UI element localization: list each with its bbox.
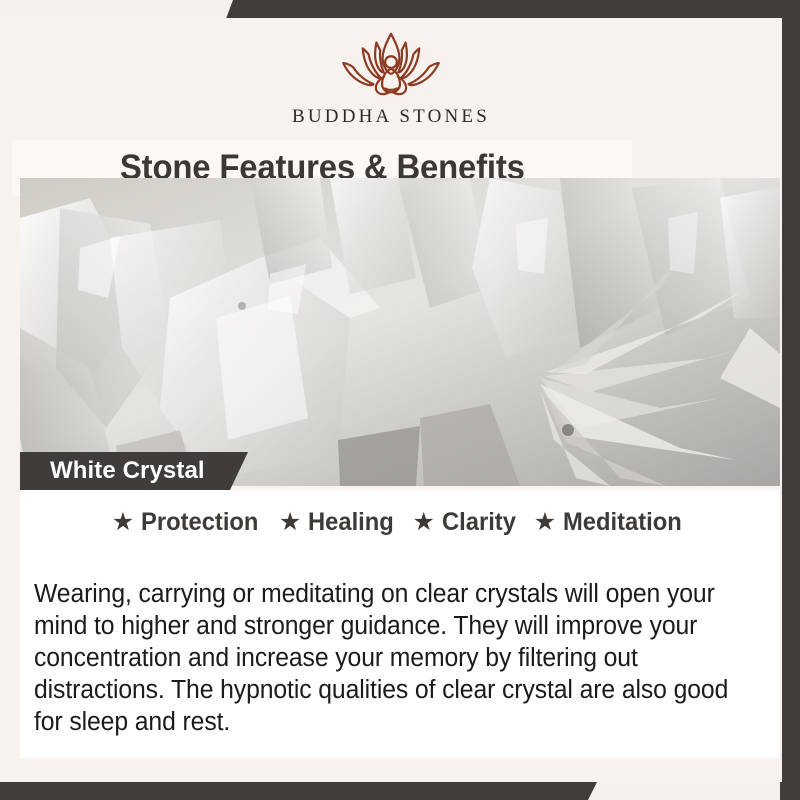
benefit-item-healing: ★ Healing: [279, 508, 399, 537]
description-paragraph: Wearing, carrying or meditating on clear…: [34, 578, 742, 738]
brand-header: BUDDHA STONES: [0, 18, 782, 142]
benefit-label: Protection: [141, 508, 258, 537]
star-icon: ★: [413, 510, 435, 535]
panel-bottom-fill: [20, 746, 780, 758]
lotus-meditation-figure-icon: [316, 26, 466, 104]
benefit-item-meditation: ★ Meditation: [534, 508, 688, 537]
star-icon: ★: [534, 510, 556, 535]
status-badge: White Crystal: [20, 452, 248, 490]
benefits-list: ★ Protection ★ Healing ★ Clarity ★ Medit…: [20, 508, 780, 537]
brand-name: BUDDHA STONES: [292, 106, 490, 128]
star-icon: ★: [112, 510, 134, 535]
benefit-label: Healing: [308, 508, 394, 537]
star-icon: ★: [279, 510, 301, 535]
infographic-card: BUDDHA STONES Stone Features & Benefits: [0, 0, 800, 800]
stone-name-label: White Crystal: [20, 457, 205, 485]
benefit-item-protection: ★ Protection: [112, 508, 265, 537]
frame-right-bar: [780, 0, 800, 800]
benefit-item-clarity: ★ Clarity: [413, 508, 520, 537]
benefit-label: Clarity: [442, 508, 516, 537]
stone-photo: [20, 178, 780, 486]
content-panel: ★ Protection ★ Healing ★ Clarity ★ Medit…: [20, 490, 780, 746]
benefit-label: Meditation: [563, 508, 682, 537]
